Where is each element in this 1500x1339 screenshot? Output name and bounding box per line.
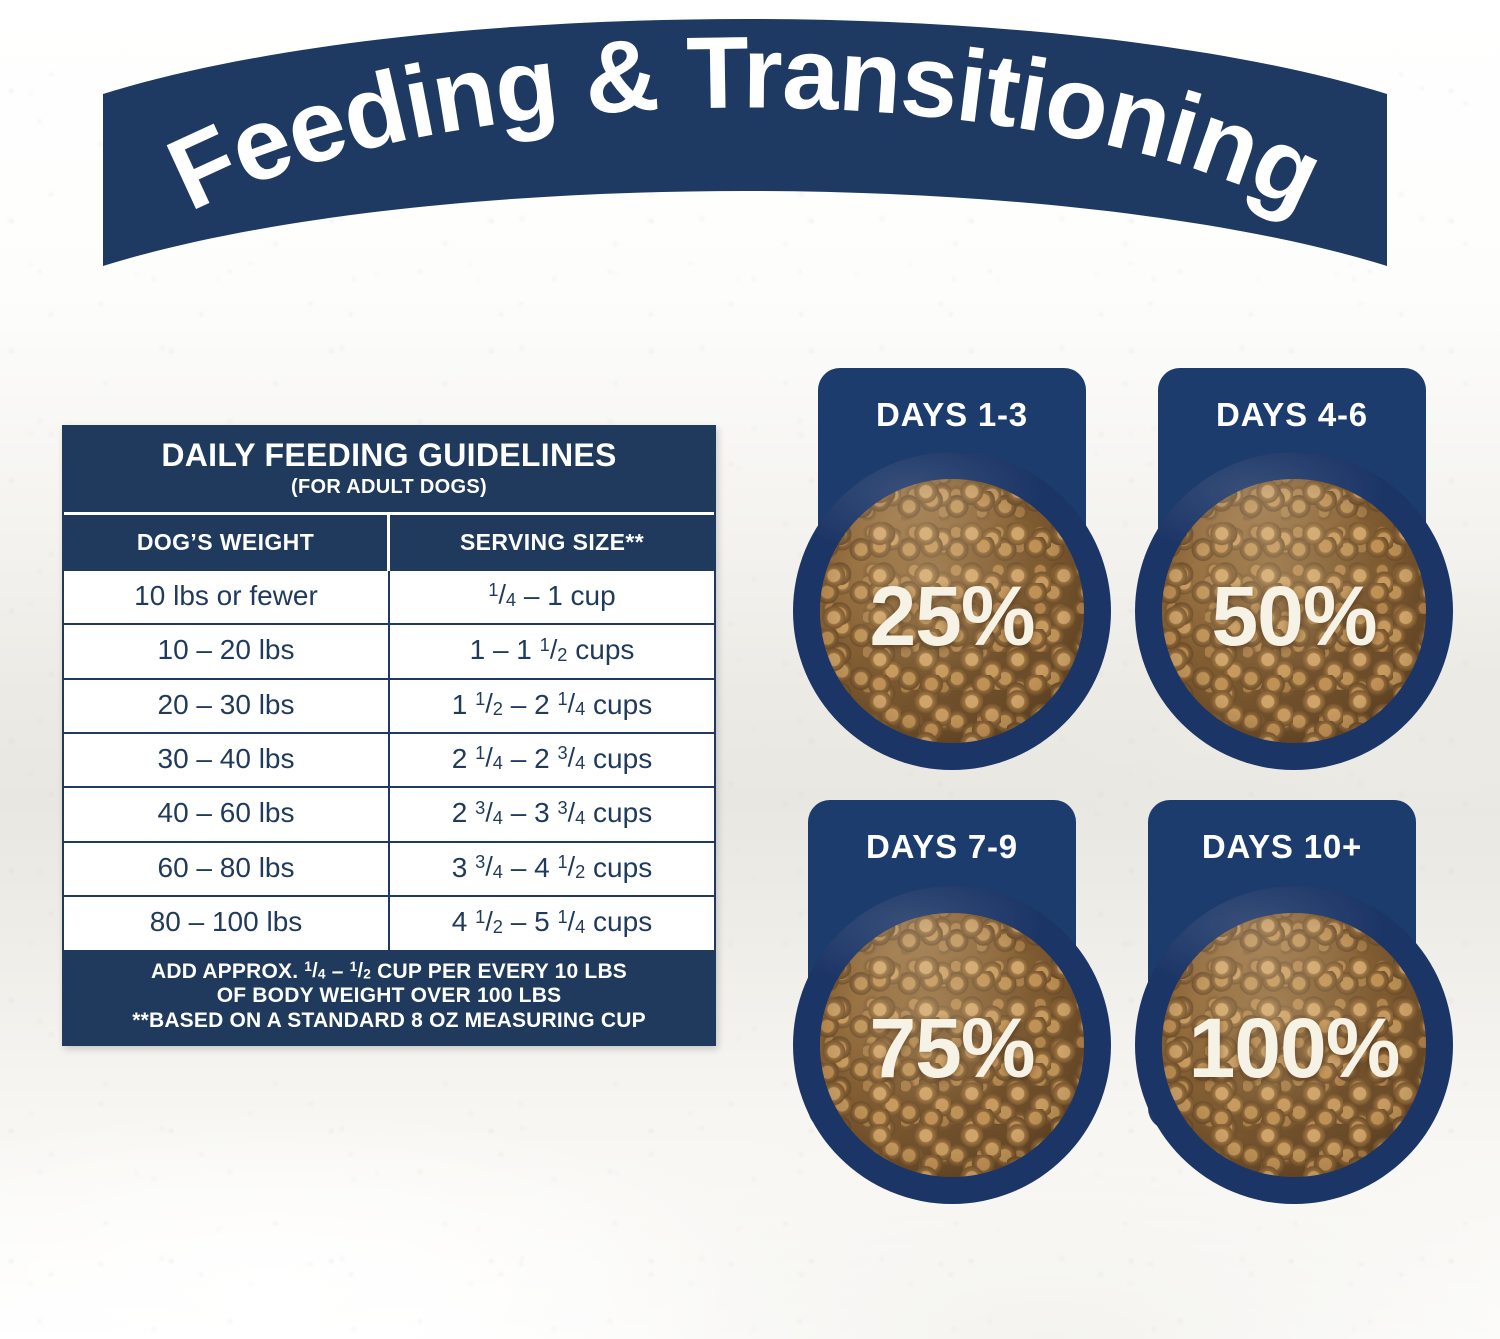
text-run: – 3 [503,797,557,828]
table-body: 10 lbs or fewer1/4 – 1 cup10 – 20 lbs1 –… [64,571,714,950]
page-title-banner: Feeding & Transitioning [95,30,1395,275]
transition-card-label: DAYS 4-6 [1158,396,1426,434]
text-run: – 4 [503,852,557,883]
text-run: 3 [452,852,475,883]
text-run: 2 [452,743,475,774]
cell-dogs-weight: 10 – 20 lbs [64,625,390,677]
table-row: 80 – 100 lbs4 1/2 – 5 1/4 cups [64,895,714,949]
cell-dogs-weight: 80 – 100 lbs [64,897,390,949]
column-header-dogs-weight: DOG’S WEIGHT [64,515,390,571]
text-run: – 1 cup [516,580,616,611]
fraction: 1/4 [475,744,503,772]
transition-card-percent: 75% [793,1000,1111,1097]
fraction: 3/4 [557,799,585,827]
text-run: 1 – 1 [470,634,540,665]
fraction: 1/2 [475,908,503,936]
daily-feeding-guidelines-table: DAILY FEEDING GUIDELINES (FOR ADULT DOGS… [62,425,716,1046]
text-run: cups [585,689,652,720]
table-row: 40 – 60 lbs2 3/4 – 3 3/4 cups [64,786,714,840]
table-row: 20 – 30 lbs1 1/2 – 2 1/4 cups [64,678,714,732]
text-run: OF BODY WEIGHT OVER 100 LBS [217,984,562,1007]
text-run: ADD APPROX. [151,960,304,983]
table-header-row: DOG’S WEIGHT SERVING SIZE** [64,515,714,571]
transition-card-label: DAYS 1-3 [818,396,1086,434]
fraction: 1/4 [557,690,585,718]
cell-serving-size: 2 3/4 – 3 3/4 cups [390,788,714,840]
cell-serving-size: 1/4 – 1 cup [390,571,714,623]
cell-serving-size: 4 1/2 – 5 1/4 cups [390,897,714,949]
footnote-line: ADD APPROX. 1/4 – 1/2 CUP PER EVERY 10 L… [70,960,708,985]
footnote-line: **BASED ON A STANDARD 8 OZ MEASURING CUP [70,1009,708,1034]
text-run: 2 [452,797,475,828]
table-footnote: ADD APPROX. 1/4 – 1/2 CUP PER EVERY 10 L… [64,950,714,1044]
footnote-line: OF BODY WEIGHT OVER 100 LBS [70,984,708,1009]
table-row: 30 – 40 lbs2 1/4 – 2 3/4 cups [64,732,714,786]
transition-card-label: DAYS 7-9 [808,828,1076,866]
cell-dogs-weight: 10 lbs or fewer [64,571,390,623]
fraction: 3/4 [475,853,503,881]
fraction: 1/4 [488,581,516,609]
fraction: 1/2 [475,690,503,718]
table-row: 10 – 20 lbs1 – 1 1/2 cups [64,623,714,677]
fraction: 1/4 [557,908,585,936]
cell-serving-size: 3 3/4 – 4 1/2 cups [390,843,714,895]
transition-card-percent: 25% [793,568,1111,665]
fraction: 1/2 [557,853,585,881]
text-run: – 5 [503,906,557,937]
table-title: DAILY FEEDING GUIDELINES [72,439,706,473]
text-run: – 2 [503,743,557,774]
cell-dogs-weight: 20 – 30 lbs [64,680,390,732]
table-row: 60 – 80 lbs3 3/4 – 4 1/2 cups [64,841,714,895]
fraction: 1/2 [350,960,371,981]
cell-dogs-weight: 30 – 40 lbs [64,734,390,786]
text-run: **BASED ON A STANDARD 8 OZ MEASURING CUP [132,1009,646,1032]
cell-dogs-weight: 60 – 80 lbs [64,843,390,895]
cell-dogs-weight: 40 – 60 lbs [64,788,390,840]
cell-serving-size: 1 – 1 1/2 cups [390,625,714,677]
text-run: CUP PER EVERY 10 LBS [371,960,627,983]
fraction: 1/4 [304,960,325,981]
table-title-block: DAILY FEEDING GUIDELINES (FOR ADULT DOGS… [64,427,714,515]
transition-card-percent: 100% [1135,1000,1453,1097]
column-header-serving-size: SERVING SIZE** [390,515,714,571]
table-subtitle: (FOR ADULT DOGS) [72,476,706,499]
transition-card-percent: 50% [1135,568,1453,665]
text-run: – 2 [503,689,557,720]
transition-card-label: DAYS 10+ [1148,828,1416,866]
text-run: cups [567,634,634,665]
table-row: 10 lbs or fewer1/4 – 1 cup [64,571,714,623]
text-run: cups [585,743,652,774]
text-run: cups [585,906,652,937]
text-run: cups [585,797,652,828]
text-run: 4 [452,906,475,937]
text-run: 1 [452,689,475,720]
fraction: 1/2 [540,636,568,664]
cell-serving-size: 1 1/2 – 2 1/4 cups [390,680,714,732]
text-run: – [326,960,350,983]
fraction: 3/4 [475,799,503,827]
cell-serving-size: 2 1/4 – 2 3/4 cups [390,734,714,786]
text-run: cups [585,852,652,883]
fraction: 3/4 [557,744,585,772]
